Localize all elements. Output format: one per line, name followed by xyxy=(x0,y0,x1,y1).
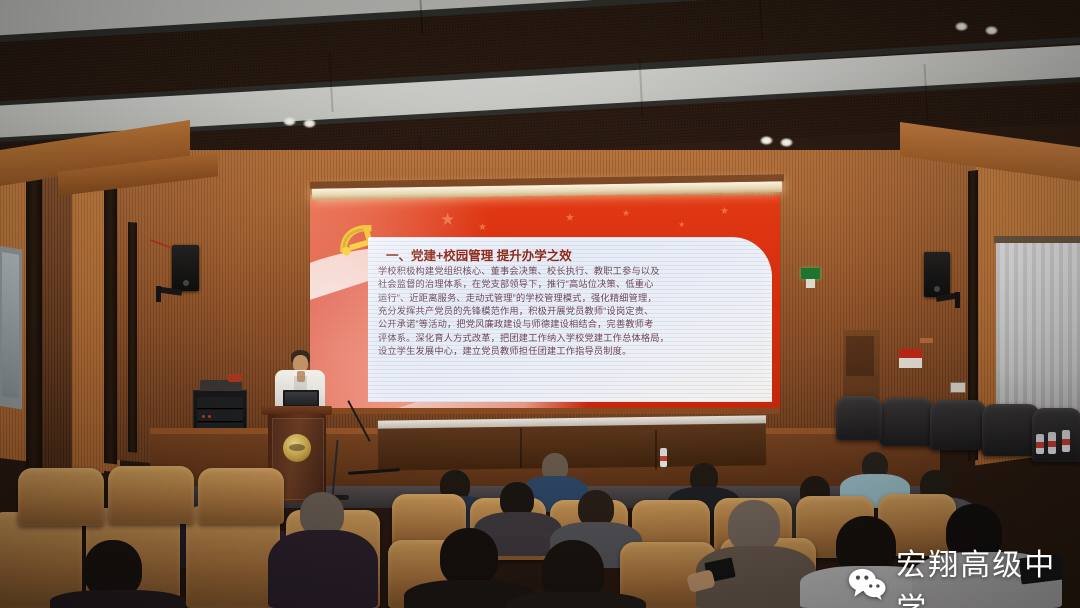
left-wall-panel-3 xyxy=(117,154,163,464)
laptop-screen xyxy=(285,392,317,405)
audience-head xyxy=(440,528,498,586)
wall-label-small xyxy=(920,338,933,343)
water-bottle xyxy=(1036,434,1044,454)
slide-content-panel: 一、党建+校园管理 提升办学之效 学校积极构建党组织核心、董事会决策、校长执行、… xyxy=(368,237,772,402)
slide-body-line: 设立学生发展中心，建立党员教师担任团建工作指导员制度。 xyxy=(378,345,669,358)
emergency-exit-sign xyxy=(801,268,820,279)
wall-speaker-left-post xyxy=(156,286,161,302)
presenter-laptop[interactable] xyxy=(283,390,319,407)
ceiling-downlight xyxy=(283,117,296,126)
ceiling-downlight xyxy=(985,26,998,35)
star-decor: ★ xyxy=(720,207,729,217)
left-wall-reveal-2 xyxy=(104,153,117,464)
watermark: 宏翔高级中学 xyxy=(848,540,1080,608)
left-window xyxy=(2,252,19,399)
wall-speaker-right xyxy=(924,252,950,297)
ceiling-downlight xyxy=(780,138,793,147)
water-bottle xyxy=(660,448,667,467)
fire-safety-notice-body xyxy=(899,358,922,368)
slide-body-line: 评体系。深化育人方式改革，把团建工作纳入学校党建工作总体格局， xyxy=(378,332,669,345)
wall-outlet xyxy=(950,382,966,393)
door-panel xyxy=(846,336,874,376)
auditorium-seat-empty xyxy=(18,468,104,526)
audience-shoulders xyxy=(506,592,646,608)
star-decor: ★ xyxy=(478,223,487,233)
exec-chair xyxy=(836,396,882,440)
left-wall-panel-2 xyxy=(42,150,72,474)
water-bottle xyxy=(1062,430,1070,452)
star-decor: ★ xyxy=(678,221,685,229)
rack-red-device xyxy=(228,374,242,382)
rack-unit xyxy=(197,397,243,409)
left-wall-reveal-3 xyxy=(128,222,137,453)
slide-body-line: 公开承诺”等活动，把党风廉政建设与师德建设相结合，完善教师考 xyxy=(378,318,669,331)
audience-shoulders xyxy=(268,530,378,608)
lectern-emblem-inner xyxy=(289,444,305,451)
audience-shoulders xyxy=(50,590,186,608)
fire-safety-notice xyxy=(899,349,922,358)
slide-title: 一、党建+校园管理 提升办学之效 xyxy=(386,245,572,264)
star-decor: ★ xyxy=(565,213,575,224)
auditorium-seat-empty xyxy=(108,466,194,524)
wall-speaker-left xyxy=(172,245,199,291)
slide-body: 学校积极构建党组织核心、董事会决策、校长执行、教职工参与以及 社会监督的治理体系… xyxy=(378,265,669,358)
left-wall-reveal-1 xyxy=(26,150,42,472)
slide-body-line: 充分发挥共产党员的先锋模范作用，积极开展党员教师“设岗定责、 xyxy=(378,305,669,318)
auditorium-seat-empty xyxy=(198,468,284,524)
table-seam xyxy=(520,428,522,468)
screen-red-background: ★ ★ ★ ★ ★ ★ 一、党建+校园管理 提升办学之效 学校积极构建党组织 xyxy=(310,195,780,410)
table-seam xyxy=(655,430,657,470)
left-wall-column xyxy=(72,150,104,473)
ceiling-downlight xyxy=(760,136,773,145)
audience-head xyxy=(728,500,780,552)
wall-speaker-right-post xyxy=(955,292,960,308)
exec-chair xyxy=(930,400,986,450)
wechat-icon xyxy=(848,567,886,601)
slide-body-line: 学校积极构建党组织核心、董事会决策、校长执行、教职工参与以及 xyxy=(378,265,669,278)
exec-chair xyxy=(880,398,934,446)
star-decor: ★ xyxy=(622,209,630,218)
right-window-curtain xyxy=(996,242,1080,424)
screen-bottom-trim xyxy=(310,408,780,414)
auditorium-photo: ★ ★ ★ ★ ★ ★ 一、党建+校园管理 提升办学之效 学校积极构建党组织 xyxy=(0,0,1080,608)
slide-body-line: 社会监督的治理体系，在党支部领导下，推行“高站位决策、低重心 xyxy=(378,278,669,291)
projection-led-screen: ★ ★ ★ ★ ★ ★ 一、党建+校园管理 提升办学之效 学校积极构建党组织 xyxy=(310,195,780,410)
water-bottle xyxy=(1048,432,1056,454)
curtain-rail xyxy=(994,236,1080,243)
ceiling-downlight xyxy=(303,119,316,128)
rack-indicator-led xyxy=(208,415,211,418)
exit-sign-mount xyxy=(806,279,815,288)
rack-indicator-led xyxy=(202,415,205,418)
ceiling-downlight xyxy=(955,22,968,31)
watermark-text: 宏翔高级中学 xyxy=(896,540,1080,608)
star-decor: ★ xyxy=(440,211,455,228)
slide-body-line: 运行”、近距离服务、走动式管理”的学校管理模式，强化精细管理， xyxy=(378,292,669,305)
